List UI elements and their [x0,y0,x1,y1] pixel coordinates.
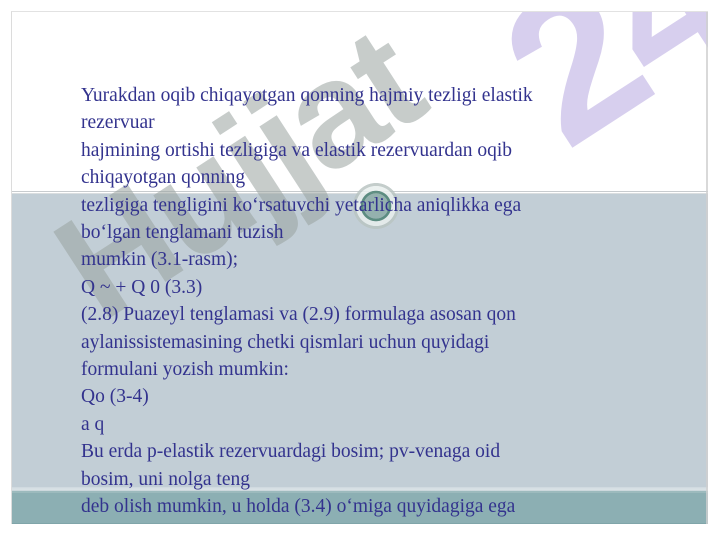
body-text-line: rezervuar [81,109,656,136]
body-text-line: bo‘lamiz: [81,521,656,525]
body-text-line: deb olish mumkin, u holda (3.4) o‘miga q… [81,493,656,520]
body-text-line: hajmining ortishi tezligiga va elastik r… [81,137,656,164]
body-text-line: bo‘lgan tenglamani tuzish [81,219,656,246]
body-text-line: mumkin (3.1-rasm); [81,246,656,273]
body-text-line: tezligiga tengligini ko‘rsatuvchi yetarl… [81,192,656,219]
body-text-line: formulani yozish mumkin: [81,356,656,383]
body-text-line: Q ~ + Q 0 (3.3) [81,274,656,301]
body-text-line: aylanissistemasining chetki qismlari uch… [81,329,656,356]
slide-canvas: 24 Hujjat Yurakdan oqib chiqayotgan qonn… [11,11,708,524]
body-text-line: a q [81,411,656,438]
slide-page: 24 Hujjat Yurakdan oqib chiqayotgan qonn… [0,0,720,540]
slide-body-text: Yurakdan oqib chiqayotgan qonning hajmiy… [81,82,656,524]
body-text-line: (2.8) Puazeyl tenglamasi va (2.9) formul… [81,301,656,328]
body-text-line: chiqayotgan qonning [81,164,656,191]
body-text-line: Qo (3-4) [81,383,656,410]
body-text-line: bosim, uni nolga teng [81,466,656,493]
slide-right-edge [706,12,708,524]
body-text-line: Bu erda p-elastik rezervuardagi bosim; p… [81,438,656,465]
body-text-line: Yurakdan oqib chiqayotgan qonning hajmiy… [81,82,656,109]
